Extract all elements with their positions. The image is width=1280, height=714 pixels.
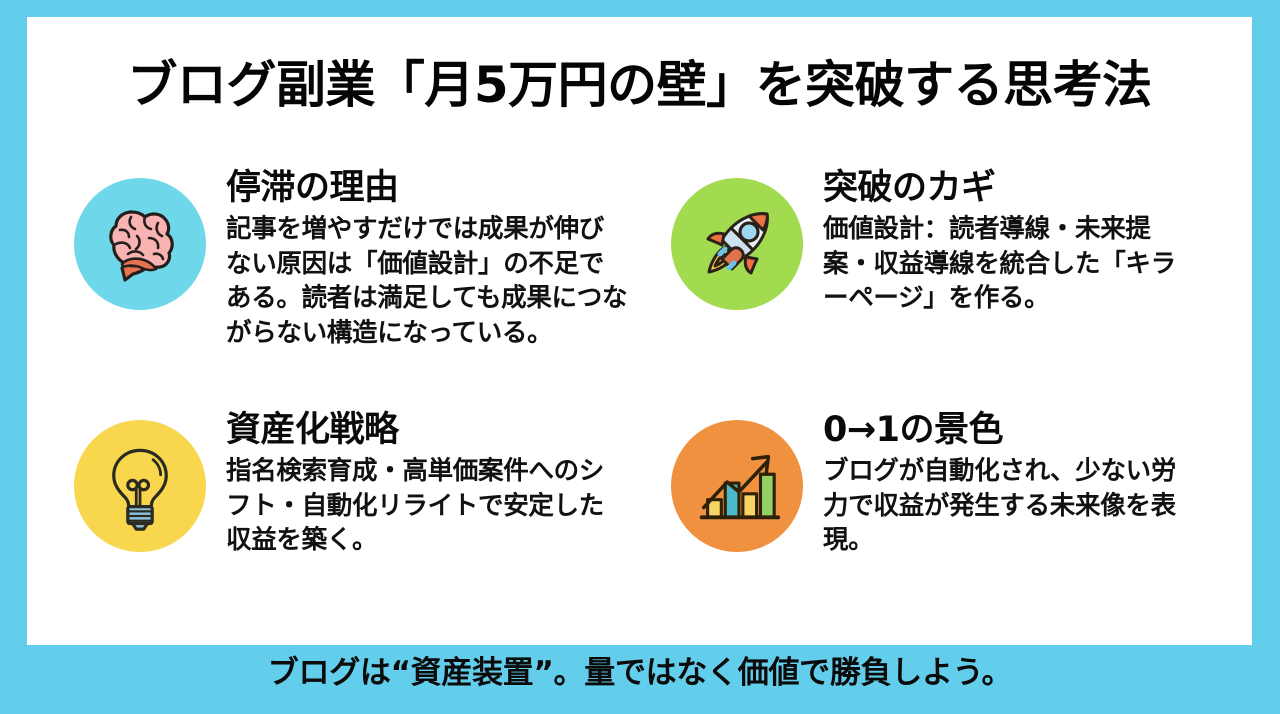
feature-card-asset-strategy: 資産化戦略 指名検索育成・高単価案件へのシフト・自動化リライトで安定した収益を築… xyxy=(47,407,635,649)
page-title: ブログ副業「月5万円の壁」を突破する思考法 xyxy=(27,57,1252,113)
growth-chart-icon xyxy=(690,439,784,533)
growth-chart-icon-badge xyxy=(671,420,803,552)
footer-tagline: ブログは“資産装置”。量ではなく価値で勝負しよう。 xyxy=(0,653,1280,693)
content-panel: ブログ副業「月5万円の壁」を突破する思考法 xyxy=(27,17,1252,645)
feature-card-breakthrough-key: 突破のカギ 価値設計：読者導線・未来提案・収益導線を統合した「キラーページ」を作… xyxy=(644,165,1232,407)
rocket-icon-badge xyxy=(671,178,803,310)
card-title: 資産化戦略 xyxy=(226,409,635,452)
card-title: 突破のカギ xyxy=(823,167,1232,210)
brain-icon xyxy=(92,196,188,292)
card-text-block: 停滞の理由 記事を増やすだけでは成果が伸びない原因は「価値設計」の不足である。読… xyxy=(206,165,635,350)
card-body: 指名検索育成・高単価案件へのシフト・自動化リライトで安定した収益を築く。 xyxy=(226,454,628,558)
card-body: 記事を増やすだけでは成果が伸びない原因は「価値設計」の不足である。読者は満足して… xyxy=(226,212,628,350)
lightbulb-icon-badge xyxy=(74,420,206,552)
card-text-block: 0→1の景色 ブログが自動化され、少ない労力で収益が発生する未来像を表現。 xyxy=(803,407,1232,558)
card-body: 価値設計：読者導線・未来提案・収益導線を統合した「キラーページ」を作る。 xyxy=(823,212,1195,316)
card-body: ブログが自動化され、少ない労力で収益が発生する未来像を表現。 xyxy=(823,454,1195,558)
feature-card-zero-to-one: 0→1の景色 ブログが自動化され、少ない労力で収益が発生する未来像を表現。 xyxy=(644,407,1232,649)
card-text-block: 突破のカギ 価値設計：読者導線・未来提案・収益導線を統合した「キラーページ」を作… xyxy=(803,165,1232,316)
card-title: 0→1の景色 xyxy=(823,409,1232,452)
card-text-block: 資産化戦略 指名検索育成・高単価案件へのシフト・自動化リライトで安定した収益を築… xyxy=(206,407,635,558)
brain-icon-badge xyxy=(74,178,206,310)
card-title: 停滞の理由 xyxy=(226,167,635,210)
infographic-slide: ブログ副業「月5万円の壁」を突破する思考法 xyxy=(0,0,1280,714)
rocket-icon xyxy=(689,196,785,292)
feature-card-stagnation-reason: 停滞の理由 記事を増やすだけでは成果が伸びない原因は「価値設計」の不足である。読… xyxy=(47,165,635,407)
lightbulb-icon xyxy=(95,441,185,531)
feature-card-grid: 停滞の理由 記事を増やすだけでは成果が伸びない原因は「価値設計」の不足である。読… xyxy=(47,165,1232,649)
